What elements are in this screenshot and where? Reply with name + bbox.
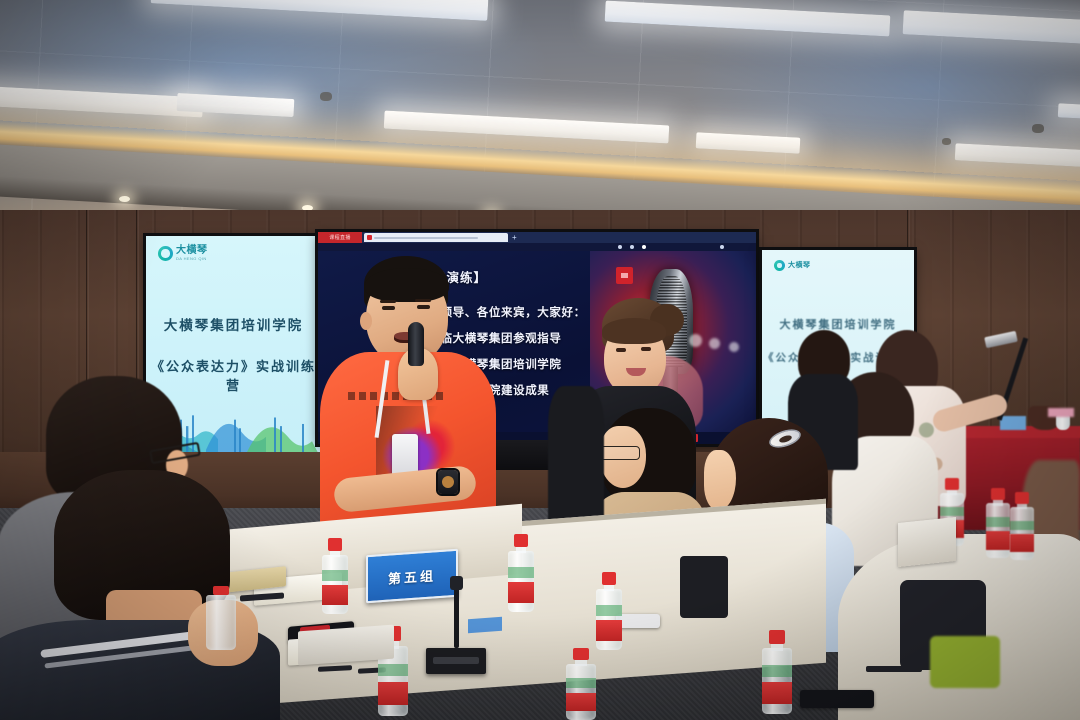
- bottle-1-green-band: [322, 570, 348, 581]
- held-bottle-cap: [213, 586, 230, 595]
- microphone-gooseneck: [454, 582, 459, 648]
- beige-coat-woman-glasses: [598, 446, 640, 460]
- toolbar-dot-2: [630, 245, 634, 249]
- daheng qin-logo-icon-right: [774, 260, 785, 271]
- right-screen-logo: 大横琴: [774, 260, 811, 271]
- water-bottle-1: [322, 538, 348, 614]
- bottle-9-green-band: [1010, 521, 1034, 531]
- laptop-on-table: [298, 625, 394, 666]
- ceiling-sensor-3: [942, 138, 951, 145]
- bottle-6-cap: [769, 630, 786, 644]
- toolbar-dot-4: [720, 245, 724, 249]
- toolbar-dot-1: [618, 245, 622, 249]
- microphone-base-slot: [433, 657, 479, 664]
- host-eye-right: [641, 347, 651, 351]
- host-hair-front: [602, 318, 666, 344]
- bottle-5-green-band: [596, 605, 622, 616]
- bottle-4-label: [566, 693, 596, 712]
- right-screen-logo-text: 大横琴: [788, 262, 811, 269]
- phone-2: [616, 614, 660, 628]
- bottle-2-green-band: [508, 567, 534, 578]
- presenter-ear: [360, 312, 372, 330]
- presenter-eye-right: [417, 305, 430, 309]
- blue-papers-on-red-table: [1000, 416, 1026, 430]
- new-tab-icon[interactable]: +: [512, 234, 517, 242]
- presenter-eyebrow-left: [380, 300, 396, 303]
- behind-center-person-body: [548, 386, 604, 526]
- bottle-6-label: [762, 682, 792, 704]
- bottle-1-cap: [328, 538, 343, 551]
- water-bottle-8: [986, 488, 1010, 558]
- photo-scene: 大横琴 DA HENG QIN 大横琴集团培训学院 《公众表达力》实战训练营 课…: [0, 0, 1080, 720]
- phone-3: [800, 690, 874, 708]
- chair-center: [680, 556, 728, 618]
- water-bottle-9: [1010, 492, 1034, 560]
- left-screen-logo-subtext: DA HENG QIN: [176, 256, 208, 261]
- tab-title-placeholder: [374, 237, 478, 239]
- presenter-eye-left: [382, 306, 395, 310]
- water-bottle-5: [596, 572, 622, 650]
- person-behind-center-left: [548, 386, 604, 526]
- host-eye-left: [616, 348, 626, 352]
- water-bottle-held: [206, 586, 236, 650]
- left-screen-title-line1: 大横琴集团培训学院: [146, 314, 321, 334]
- ceiling-sensor-2: [1032, 124, 1044, 133]
- left-screen-logo-text: 大横琴: [176, 246, 208, 256]
- bottle-9-label: [1010, 534, 1034, 552]
- presenter-hairline: [365, 268, 449, 302]
- slide-watermark-logo: [616, 267, 633, 284]
- folded-paper-right-table: [898, 517, 956, 567]
- browser-active-tab[interactable]: [364, 233, 508, 242]
- bottle-1-label: [322, 585, 348, 605]
- left-screen-logo: 大横琴 DA HENG QIN: [158, 246, 208, 261]
- bottle-3-green-band: [378, 664, 408, 677]
- bottle-8-cap: [991, 488, 1004, 500]
- bottle-2-cap: [514, 534, 529, 547]
- stage-light-bokeh-3: [729, 342, 739, 352]
- blue-sticky-note: [468, 617, 502, 633]
- browser-brand-tab[interactable]: 课程直播: [318, 232, 362, 243]
- handheld-microphone: [408, 322, 424, 366]
- browser-tab-bar: 课程直播 +: [318, 232, 756, 243]
- bottle-2-label: [508, 582, 534, 602]
- bottle-7-green-band: [940, 507, 964, 517]
- bottle-8-label: [986, 531, 1010, 549]
- water-bottle-2: [508, 534, 534, 612]
- daheng qin-logo-icon: [158, 246, 173, 261]
- microphone-capsule: [450, 576, 463, 590]
- pink-folder: [1048, 408, 1074, 417]
- bottle-4-green-band: [566, 678, 596, 688]
- browser-toolbar: [318, 243, 756, 251]
- presenter-watch-face: [442, 476, 454, 488]
- water-bottle-4: [566, 648, 596, 720]
- green-chair-accent: [930, 636, 1000, 688]
- water-bottle-6: [762, 630, 792, 714]
- bottle-8-green-band: [986, 517, 1010, 527]
- bottle-9-cap: [1015, 492, 1028, 504]
- presenter-eyebrow-right: [415, 299, 431, 302]
- tab-favicon-icon: [367, 235, 372, 240]
- stage-light-bokeh-2: [709, 338, 720, 349]
- bottle-5-cap: [602, 572, 617, 585]
- bottle-4-cap: [573, 648, 590, 660]
- bottle-5-label: [596, 620, 622, 640]
- bottle-3-label: [378, 682, 408, 705]
- bottle-6-green-band: [762, 665, 792, 677]
- bottle-7-cap: [945, 478, 958, 490]
- downlight-1: [119, 196, 130, 202]
- browser-tab-label: 课程直播: [329, 234, 351, 241]
- ceiling-sensor-1: [320, 92, 332, 101]
- toolbar-dot-3: [642, 245, 646, 249]
- held-bottle-body: [206, 595, 236, 650]
